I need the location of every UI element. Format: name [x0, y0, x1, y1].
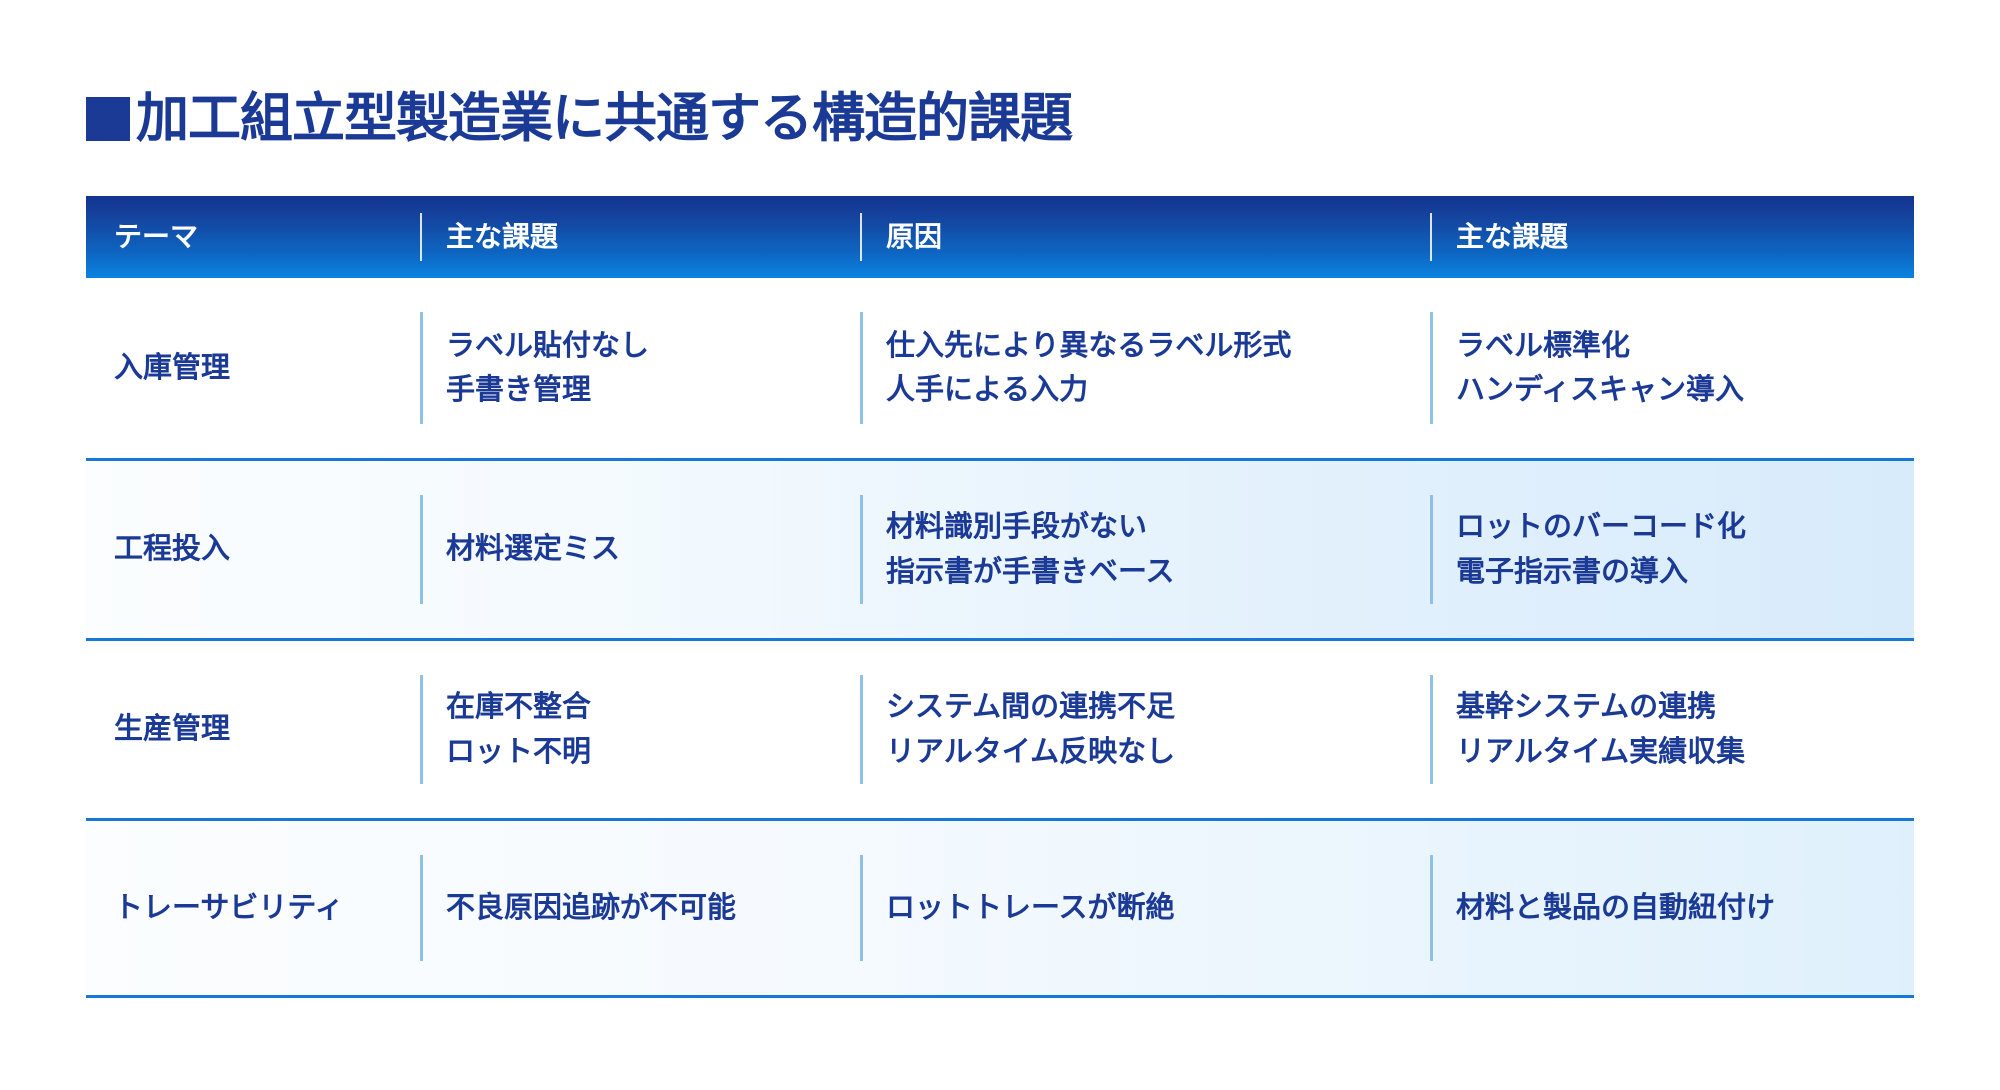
table-cell-actions: 基幹システムの連携 リアルタイム実績収集: [1430, 641, 1914, 818]
table-header-label-theme: テーマ: [114, 223, 198, 251]
column-divider: [860, 855, 863, 961]
cause-item: 人手による入力: [886, 375, 1430, 405]
table-cell-theme: トレーサビリティ: [86, 821, 420, 995]
table-cell-issues: ラベル貼付なし 手書き管理: [420, 278, 860, 458]
table-header-label-issues: 主な課題: [446, 223, 558, 251]
action-item: 材料と製品の自動紐付け: [1456, 893, 1914, 923]
table-header-cell-theme: テーマ: [86, 196, 420, 278]
table-cell-actions: ロットのバーコード化 電子指示書の導入: [1430, 461, 1914, 638]
header-column-divider: [1430, 213, 1432, 261]
column-divider: [1430, 675, 1433, 784]
theme-label: 入庫管理: [114, 353, 420, 383]
column-divider: [420, 312, 423, 424]
action-item: リアルタイム実績収集: [1456, 737, 1914, 767]
table-header-cell-actions: 主な課題: [1430, 196, 1914, 278]
issue-item: ラベル貼付なし: [446, 331, 860, 361]
cause-item: リアルタイム反映なし: [886, 737, 1430, 767]
action-item: ハンディスキャン導入: [1456, 375, 1914, 405]
action-item: ラベル標準化: [1456, 331, 1914, 361]
issues-table: テーマ 主な課題 原因 主な課題 入庫管理 ラベル貼付なし: [86, 196, 1914, 998]
table-cell-actions: 材料と製品の自動紐付け: [1430, 821, 1914, 995]
square-bullet-icon: [86, 97, 130, 141]
action-item: ロットのバーコード化: [1456, 512, 1914, 542]
table-header-cell-issues: 主な課題: [420, 196, 860, 278]
column-divider: [1430, 312, 1433, 424]
page-title: 加工組立型製造業に共通する構造的課題: [86, 92, 1072, 145]
issue-item: ロット不明: [446, 737, 860, 767]
slide-root: 加工組立型製造業に共通する構造的課題 テーマ 主な課題 原因 主な課題: [0, 0, 2000, 1090]
issue-item: 不良原因追跡が不可能: [446, 893, 860, 923]
table-cell-issues: 在庫不整合 ロット不明: [420, 641, 860, 818]
issue-item: 在庫不整合: [446, 692, 860, 722]
column-divider: [1430, 855, 1433, 961]
table-cell-causes: 材料識別手段がない 指示書が手書きベース: [860, 461, 1430, 638]
column-divider: [860, 312, 863, 424]
theme-label: 生産管理: [114, 714, 420, 744]
table-header-row: テーマ 主な課題 原因 主な課題: [86, 196, 1914, 278]
column-divider: [860, 675, 863, 784]
table-header-label-causes: 原因: [886, 223, 942, 251]
page-title-text: 加工組立型製造業に共通する構造的課題: [136, 92, 1072, 145]
table-cell-theme: 工程投入: [86, 461, 420, 638]
theme-label: トレーサビリティ: [114, 893, 420, 923]
action-item: 基幹システムの連携: [1456, 692, 1914, 722]
cause-item: 仕入先により異なるラベル形式: [886, 331, 1430, 361]
column-divider: [1430, 495, 1433, 604]
cause-item: 指示書が手書きベース: [886, 557, 1430, 587]
table-cell-causes: システム間の連携不足 リアルタイム反映なし: [860, 641, 1430, 818]
table-cell-theme: 生産管理: [86, 641, 420, 818]
table-header-cell-causes: 原因: [860, 196, 1430, 278]
table-cell-issues: 材料選定ミス: [420, 461, 860, 638]
table-cell-actions: ラベル標準化 ハンディスキャン導入: [1430, 278, 1914, 458]
cause-item: ロットトレースが断絶: [886, 893, 1430, 923]
issue-item: 手書き管理: [446, 375, 860, 405]
column-divider: [860, 495, 863, 604]
table-cell-causes: 仕入先により異なるラベル形式 人手による入力: [860, 278, 1430, 458]
table-row: 生産管理 在庫不整合 ロット不明 システム間の連携不足 リアルタイム反映なし 基…: [86, 638, 1914, 818]
header-column-divider: [420, 213, 422, 261]
table-row: トレーサビリティ 不良原因追跡が不可能 ロットトレースが断絶 材料と製品の自動紐…: [86, 818, 1914, 998]
table-cell-theme: 入庫管理: [86, 278, 420, 458]
table-row: 工程投入 材料選定ミス 材料識別手段がない 指示書が手書きベース ロットのバーコ…: [86, 458, 1914, 638]
table-header-label-actions: 主な課題: [1456, 223, 1568, 251]
issue-item: 材料選定ミス: [446, 534, 860, 564]
table-cell-issues: 不良原因追跡が不可能: [420, 821, 860, 995]
table-row: 入庫管理 ラベル貼付なし 手書き管理 仕入先により異なるラベル形式 人手による入…: [86, 278, 1914, 458]
cause-item: 材料識別手段がない: [886, 512, 1430, 542]
cause-item: システム間の連携不足: [886, 692, 1430, 722]
column-divider: [420, 495, 423, 604]
action-item: 電子指示書の導入: [1456, 557, 1914, 587]
column-divider: [420, 675, 423, 784]
table-cell-causes: ロットトレースが断絶: [860, 821, 1430, 995]
theme-label: 工程投入: [114, 534, 420, 564]
header-column-divider: [860, 213, 862, 261]
column-divider: [420, 855, 423, 961]
